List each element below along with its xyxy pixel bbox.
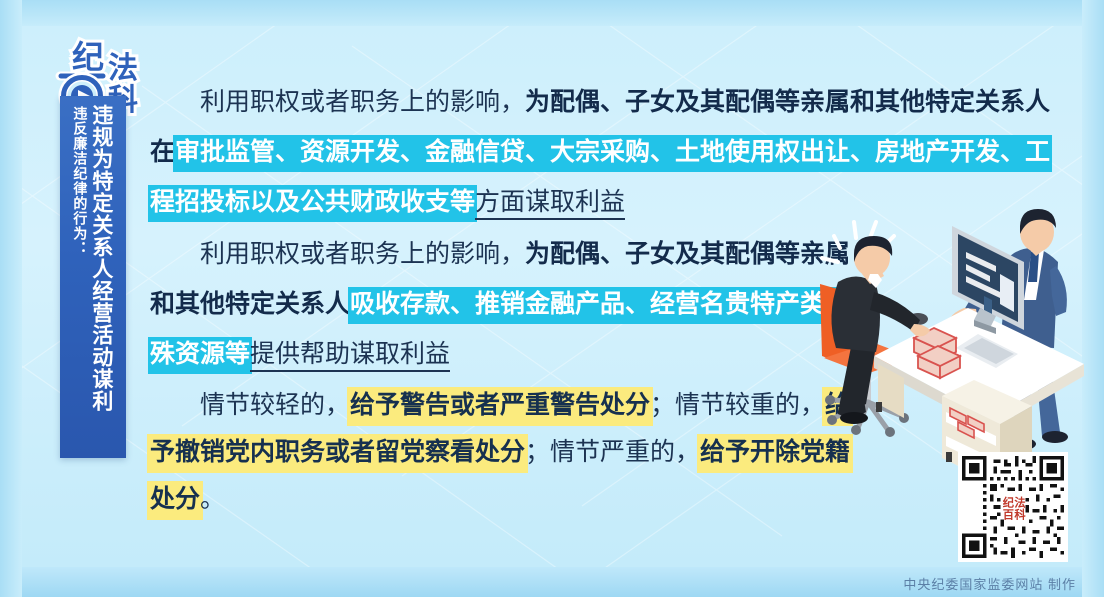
svg-text:纪: 纪 bbox=[72, 39, 104, 75]
p3-l2-highlight-1: 予撤销党内职务或者留党察看处分 bbox=[150, 437, 525, 470]
p2-l3-highlight: 殊资源等 bbox=[150, 339, 250, 372]
p3-l3-normal-1: 。 bbox=[200, 486, 225, 513]
paragraph-1-line-2: 在审批监管、资源开发、金融信贷、大宗采购、土地使用权出让、房地产开发、工 bbox=[150, 128, 850, 178]
p1-l1-bold: 为配偶、子女及其配偶等亲属和其他特定关系人 bbox=[525, 89, 1050, 116]
paragraph-2-line-1: 利用职权或者职务上的影响，为配偶、子女及其配偶等亲属 bbox=[150, 230, 850, 280]
poster-root: 纪 纪 法 法 科 科 违规为特定关系人经营活动谋利 违反廉洁纪律的行为： bbox=[0, 0, 1104, 597]
p1-l3-highlight: 程招投标以及公共财政收支等 bbox=[150, 187, 475, 220]
svg-text:法: 法 bbox=[108, 52, 138, 85]
p1-l3-underline: 方面谋取利益 bbox=[475, 189, 625, 220]
qr-center-logo: 纪 法 百 科 bbox=[1001, 495, 1027, 522]
paragraph-1: 利用职权或者职务上的影响，为配偶、子女及其配偶等亲属和其他特定关系人 在审批监管… bbox=[150, 78, 850, 228]
p3-l1-normal-1: 情节较轻的， bbox=[200, 392, 350, 419]
article-body: 利用职权或者职务上的影响，为配偶、子女及其配偶等亲属和其他特定关系人 在审批监管… bbox=[150, 78, 850, 525]
svg-text:科: 科 bbox=[1014, 508, 1026, 522]
vertical-title-banner: 违规为特定关系人经营活动谋利 违反廉洁纪律的行为： bbox=[60, 96, 126, 458]
paragraph-2: 利用职权或者职务上的影响，为配偶、子女及其配偶等亲属 和其他特定关系人吸收存款、… bbox=[150, 230, 850, 380]
p2-l3-underline: 提供帮助谋取利益 bbox=[250, 341, 450, 372]
p2-l1-normal: 利用职权或者职务上的影响， bbox=[200, 241, 525, 268]
paragraph-1-line-1: 利用职权或者职务上的影响，为配偶、子女及其配偶等亲属和其他特定关系人 bbox=[150, 78, 850, 128]
banner-sub-title: 违反廉洁纪律的行为： bbox=[73, 104, 87, 256]
p3-l3-highlight-1: 处分 bbox=[150, 484, 200, 517]
frame-right-band bbox=[1082, 0, 1104, 597]
paragraph-3-line-3: 处分。 bbox=[150, 476, 850, 523]
bribery-scene-illustration bbox=[818, 196, 1084, 496]
p2-l1-bold: 为配偶、子女及其配偶等亲属 bbox=[525, 241, 850, 268]
p3-l2-normal-1: ；情节严重的， bbox=[525, 439, 700, 466]
p1-l2-highlight: 审批监管、资源开发、金融信贷、大宗采购、土地使用权出让、房地产开发、工 bbox=[175, 137, 1050, 170]
seated-man-black-suit bbox=[822, 222, 930, 424]
paragraph-3: 情节较轻的，给予警告或者严重警告处分；情节较重的，给 予撤销党内职务或者留党察看… bbox=[150, 382, 850, 523]
p3-l1-highlight-1: 给予警告或者严重警告处分 bbox=[350, 390, 650, 423]
footer-credit: 中央纪委国家监委网站 制作 bbox=[903, 574, 1076, 593]
p2-l2-highlight: 吸收存款、推销金融产品、经营名贵特产类特 bbox=[350, 289, 850, 322]
frame-left-band bbox=[0, 0, 22, 597]
svg-text:纪: 纪 bbox=[1003, 496, 1015, 510]
p1-l2-prefix: 在 bbox=[150, 139, 175, 166]
svg-text:百: 百 bbox=[1003, 509, 1014, 522]
p1-l1-normal: 利用职权或者职务上的影响， bbox=[200, 89, 525, 116]
p2-l2-bold: 和其他特定关系人 bbox=[150, 291, 350, 318]
banner-main-title: 违规为特定关系人经营活动谋利 bbox=[90, 104, 111, 412]
frame-top-band bbox=[0, 0, 1104, 26]
paragraph-3-line-2: 予撤销党内职务或者留党察看处分；情节严重的，给予开除党籍 bbox=[150, 429, 850, 476]
paragraph-2-line-3: 殊资源等提供帮助谋取利益 bbox=[150, 330, 850, 380]
svg-text:法: 法 bbox=[1014, 496, 1025, 510]
qr-code[interactable]: 纪 法 百 科 bbox=[958, 452, 1068, 562]
paragraph-3-line-1: 情节较轻的，给予警告或者严重警告处分；情节较重的，给 bbox=[150, 382, 850, 429]
paragraph-1-line-3: 程招投标以及公共财政收支等方面谋取利益 bbox=[150, 178, 850, 228]
p3-l1-normal-2: ；情节较重的， bbox=[650, 392, 825, 419]
paragraph-2-line-2: 和其他特定关系人吸收存款、推销金融产品、经营名贵特产类特 bbox=[150, 280, 850, 330]
